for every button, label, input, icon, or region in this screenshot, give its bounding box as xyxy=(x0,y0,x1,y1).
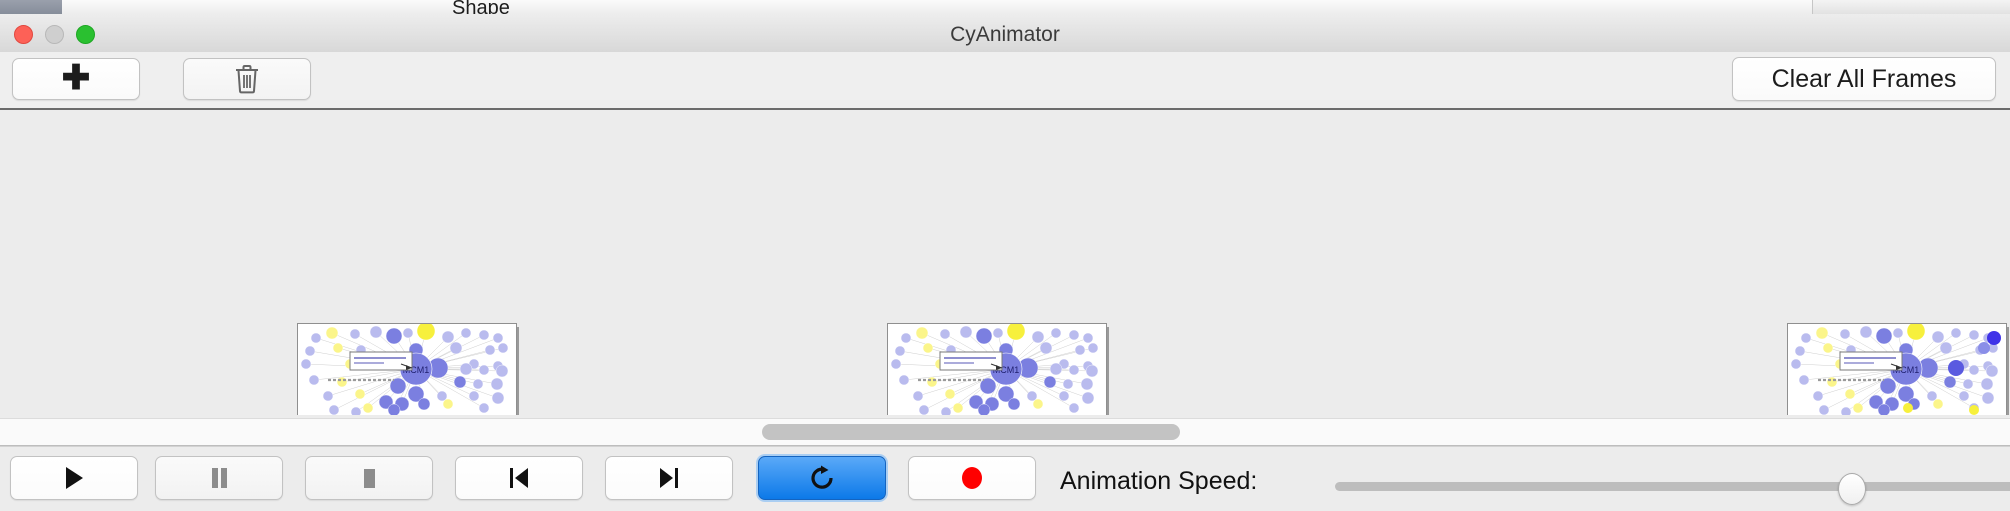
timeline-panel[interactable]: MCM1MCM1MCM1 2131415161718 Seconds xyxy=(0,110,2010,415)
background-tab xyxy=(278,0,335,14)
skip-back-button[interactable] xyxy=(455,456,583,500)
stop-icon xyxy=(356,464,382,492)
animation-speed-slider-thumb[interactable] xyxy=(1838,473,1866,505)
record-button[interactable] xyxy=(908,456,1036,500)
skip-back-icon xyxy=(504,464,534,492)
window-title: CyAnimator xyxy=(0,23,2010,47)
play-button[interactable] xyxy=(10,456,138,500)
timeline-frame-thumbnail[interactable]: MCM1 xyxy=(887,323,1109,415)
loop-icon xyxy=(807,463,837,493)
loop-button[interactable] xyxy=(758,456,886,500)
background-window-strip: Shape xyxy=(0,0,2010,15)
animation-speed-label: Animation Speed: xyxy=(1060,467,1257,496)
background-tab xyxy=(0,0,63,14)
trash-icon xyxy=(234,64,260,94)
pause-icon xyxy=(206,464,232,492)
cyanimator-window: Shape CyAnimator ✚ Clear All Frames MCM xyxy=(0,0,2010,510)
frame-network-image: MCM1 xyxy=(887,323,1107,415)
pause-button xyxy=(155,456,283,500)
play-icon xyxy=(61,464,87,492)
skip-forward-icon xyxy=(654,464,684,492)
frame-network-image: MCM1 xyxy=(297,323,517,415)
record-icon xyxy=(957,463,987,493)
timeline-scrollbar-thumb[interactable] xyxy=(762,424,1180,440)
clear-all-frames-label: Clear All Frames xyxy=(1772,65,1957,94)
background-tab xyxy=(992,0,1813,14)
frame-network-image: MCM1 xyxy=(1787,323,2007,415)
timeline-frame-thumbnail[interactable]: MCM1 xyxy=(1787,323,2009,415)
titlebar: CyAnimator xyxy=(0,14,2010,53)
toolbar: ✚ Clear All Frames xyxy=(0,52,2010,110)
add-frame-button[interactable]: ✚ xyxy=(12,58,140,100)
playback-controls: Animation Speed: xyxy=(0,446,2010,511)
timeline-frame-thumbnail[interactable]: MCM1 xyxy=(297,323,519,415)
skip-forward-button[interactable] xyxy=(605,456,733,500)
clear-all-frames-button[interactable]: Clear All Frames xyxy=(1732,57,1996,101)
animation-speed-slider[interactable] xyxy=(1335,482,2010,491)
delete-frame-button[interactable] xyxy=(183,58,311,100)
stop-button xyxy=(305,456,433,500)
background-tab xyxy=(178,0,231,14)
background-window-label: Shape xyxy=(452,0,510,15)
background-tab xyxy=(334,0,393,14)
background-tab xyxy=(62,0,179,14)
background-tab xyxy=(230,0,279,14)
